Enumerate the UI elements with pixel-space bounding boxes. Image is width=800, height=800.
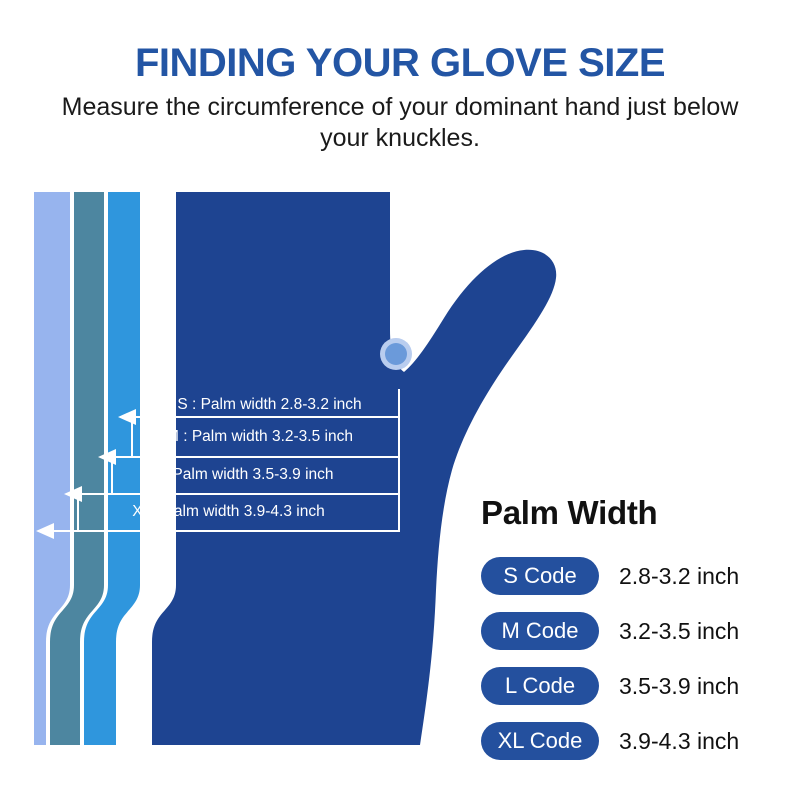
measure-label-s: S : Palm width 2.8-3.2 inch bbox=[140, 396, 399, 414]
measure-label-m: M : Palm width 3.2-3.5 inch bbox=[120, 428, 399, 446]
size-range-s: 2.8-3.2 inch bbox=[619, 557, 739, 595]
size-badge-xl: XL Code bbox=[481, 722, 599, 760]
legend-row-xl: XL Code 3.9-4.3 inch bbox=[481, 722, 771, 760]
legend-row-l: L Code 3.5-3.9 inch bbox=[481, 667, 771, 705]
legend-heading: Palm Width bbox=[481, 494, 657, 532]
legend-row-s: S Code 2.8-3.2 inch bbox=[481, 557, 771, 595]
legend-row-m: M Code 3.2-3.5 inch bbox=[481, 612, 771, 650]
size-range-xl: 3.9-4.3 inch bbox=[619, 722, 739, 760]
measure-label-l: L : Palm width 3.5-3.9 inch bbox=[86, 466, 399, 484]
size-badge-m: M Code bbox=[481, 612, 599, 650]
measure-label-xl: XL : Palm width 3.9-4.3 inch bbox=[58, 503, 399, 521]
size-range-m: 3.2-3.5 inch bbox=[619, 612, 739, 650]
size-badge-l: L Code bbox=[481, 667, 599, 705]
knuckle-dot bbox=[385, 343, 407, 365]
glove-size-infographic: FINDING YOUR GLOVE SIZE Measure the circ… bbox=[0, 0, 800, 800]
size-range-l: 3.5-3.9 inch bbox=[619, 667, 739, 705]
size-badge-s: S Code bbox=[481, 557, 599, 595]
